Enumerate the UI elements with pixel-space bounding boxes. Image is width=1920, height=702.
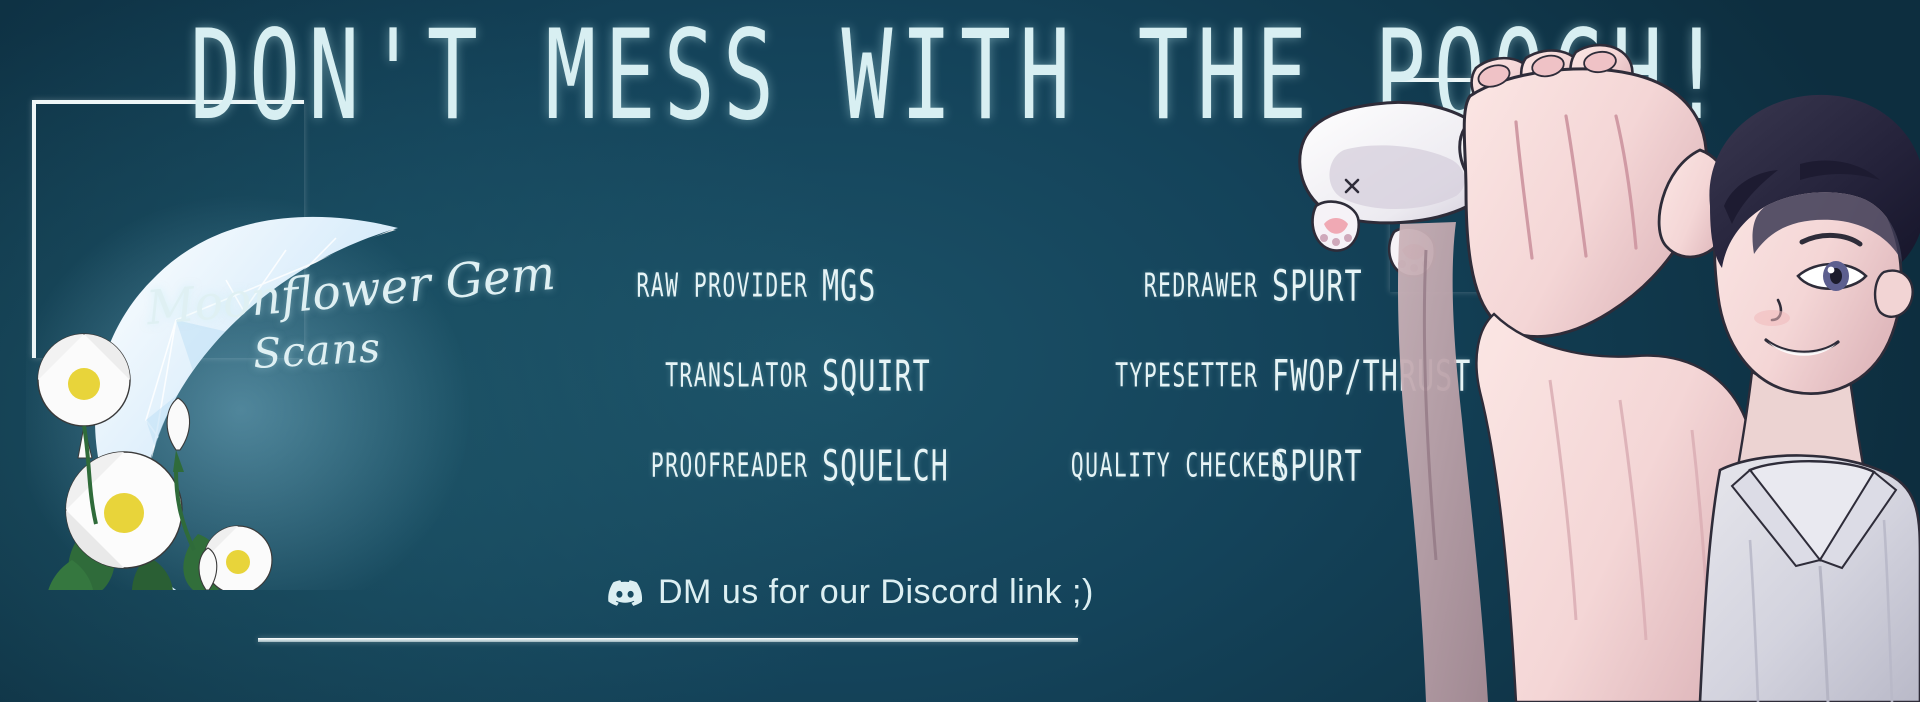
credit-name-translator: SQUIRT xyxy=(810,350,1008,401)
hands xyxy=(1464,45,1732,337)
logo-block: Moonflower Gem Scans xyxy=(26,120,486,590)
credit-role-typesetter: TYPESETTER xyxy=(1071,356,1260,394)
shirt xyxy=(1700,455,1920,702)
credit-role-proofreader: PROOFREADER xyxy=(629,446,810,484)
bottom-divider-rule xyxy=(258,638,1078,642)
illustration-man-and-dog xyxy=(1280,0,1920,702)
discord-icon xyxy=(608,580,642,606)
credit-role-redrawer: REDRAWER xyxy=(1071,266,1260,304)
credit-name-proofreader: SQUELCH xyxy=(810,440,1008,491)
crescent-moon-icon xyxy=(26,120,486,590)
credit-role-raw-provider: RAW PROVIDER xyxy=(629,266,810,304)
credit-page: DON'T MESS WITH THE POOCH! xyxy=(0,0,1920,702)
credit-role-quality-checker: QUALITY CHECKER xyxy=(1071,446,1260,484)
credit-name-raw-provider: MGS xyxy=(810,260,1008,311)
discord-label: DM us for our Discord link ;) xyxy=(658,573,1094,612)
credit-role-translator: TRANSLATOR xyxy=(629,356,810,394)
discord-row[interactable]: DM us for our Discord link ;) xyxy=(608,573,1094,612)
